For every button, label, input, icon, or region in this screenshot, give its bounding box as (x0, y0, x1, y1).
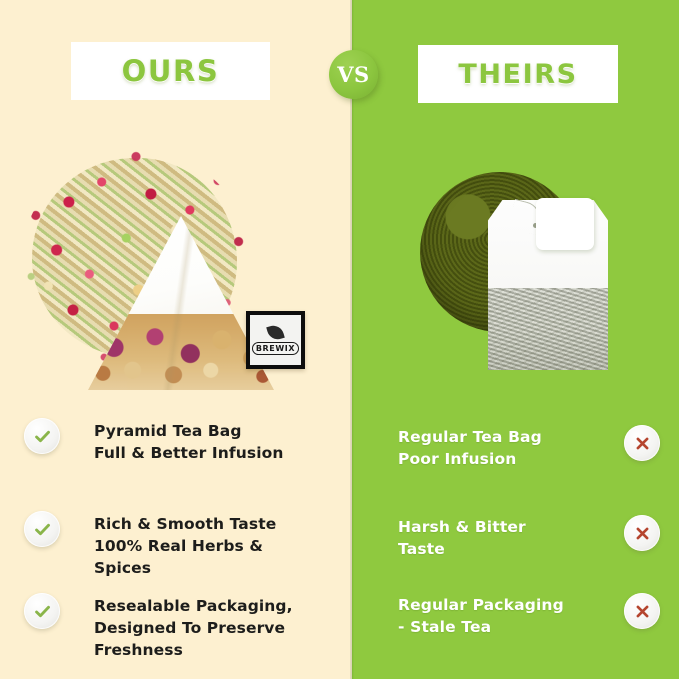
leaf-icon (266, 323, 285, 342)
theirs-product-image (408, 172, 658, 402)
brand-tag: BREWIX (246, 311, 305, 369)
cross-icon (624, 593, 660, 629)
theirs-title: THEIRS (458, 59, 577, 90)
list-item-line: 100% Real Herbs & (94, 535, 276, 557)
list-item-line: Spices (94, 557, 276, 579)
list-item-line: Designed To Preserve (94, 617, 293, 639)
list-item-text: Resealable Packaging, Designed To Preser… (94, 593, 293, 661)
list-item-text: Regular Packaging - Stale Tea (398, 593, 564, 638)
check-icon (24, 593, 60, 629)
list-item-text: Pyramid Tea Bag Full & Better Infusion (94, 418, 284, 464)
check-icon (24, 511, 60, 547)
cross-icon (624, 515, 660, 551)
list-item-text: Harsh & Bitter Taste (398, 515, 526, 560)
theirs-header-banner: THEIRS (418, 45, 618, 103)
list-item-text: Rich & Smooth Taste 100% Real Herbs & Sp… (94, 511, 276, 579)
vs-label: VS (337, 64, 369, 85)
list-item-line: Poor Infusion (398, 448, 542, 470)
list-item: Pyramid Tea Bag Full & Better Infusion (24, 418, 284, 464)
list-item: Harsh & Bitter Taste (398, 515, 660, 560)
list-item-line: Rich & Smooth Taste (94, 513, 276, 535)
ours-product-image: BREWIX (22, 150, 332, 400)
list-item-line: Freshness (94, 639, 293, 661)
list-item-line: Harsh & Bitter (398, 516, 526, 538)
list-item-line: Full & Better Infusion (94, 442, 284, 464)
check-icon (24, 418, 60, 454)
blank-tea-bag-tag (536, 198, 594, 250)
ours-header-banner: OURS (71, 42, 270, 100)
comparison-infographic: OURS VS THEIRS BREWIX (0, 0, 679, 679)
cross-icon (624, 425, 660, 461)
list-item-text: Regular Tea Bag Poor Infusion (398, 425, 542, 470)
list-item-line: Pyramid Tea Bag (94, 420, 284, 442)
list-item: Resealable Packaging, Designed To Preser… (24, 593, 293, 661)
panel-divider (350, 0, 354, 679)
list-item-line: Taste (398, 538, 526, 560)
list-item: Regular Packaging - Stale Tea (398, 593, 660, 638)
list-item-line: Regular Tea Bag (398, 426, 542, 448)
list-item-line: Regular Packaging (398, 594, 564, 616)
vs-badge: VS (329, 50, 378, 99)
list-item-line: Resealable Packaging, (94, 595, 293, 617)
list-item-line: - Stale Tea (398, 616, 564, 638)
list-item: Rich & Smooth Taste 100% Real Herbs & Sp… (24, 511, 276, 579)
ours-title: OURS (122, 54, 220, 88)
brand-name: BREWIX (252, 342, 299, 355)
list-item: Regular Tea Bag Poor Infusion (398, 425, 660, 470)
